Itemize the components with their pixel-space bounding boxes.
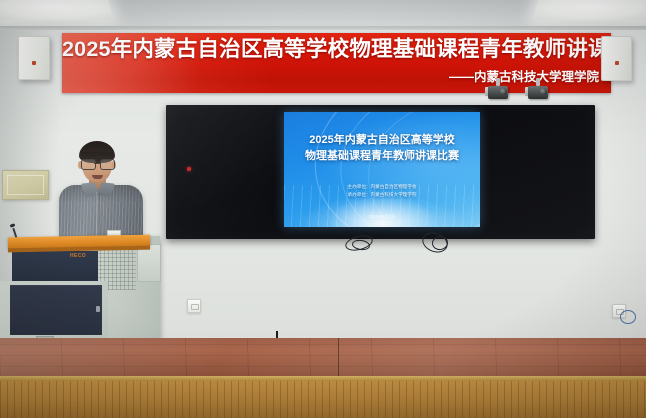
lectern-door-handle [96,306,100,312]
camera-lens-icon [540,88,547,95]
camera-lens-icon [500,88,507,95]
slide-date: 2025年9月5日 [284,214,480,220]
glasses-icon [80,159,114,168]
bracket-camera-1 [488,84,508,99]
banner-title: 2025年内蒙古自治区高等学校物理基础课程青年教师讲课比赛 [62,36,611,63]
camera-arm [496,78,500,86]
slide-glow [327,195,437,227]
lectern-brand-logo: HECO [70,253,86,259]
lecture-hall-photo: 2025年内蒙古自治区高等学校物理基础课程青年教师讲课比赛 ——内蒙古科技大学理… [0,0,646,418]
ceiling-light-left [0,0,114,20]
speaker-led-icon [32,61,36,65]
camera-arm [536,78,540,86]
slide-title-line-2: 物理基础课程青年教师讲课比赛 [284,148,480,164]
slide-organizer-line-1: 主办单位：内蒙古自治区物理学会 [284,183,480,191]
ceiling-light-right [532,0,646,20]
wall-socket-center [187,299,201,313]
speaker-led-icon [615,61,619,65]
multimedia-lectern: HECO [0,236,160,340]
glasses-lens-right [100,159,115,170]
wall-speaker-left [18,36,50,80]
socket-cord [620,310,636,324]
bracket-camera-2 [528,84,548,99]
speaker-person [56,137,146,242]
banner-attribution: ——内蒙古科技大学理学院 [449,66,599,85]
stage-front-facade [0,381,646,418]
projected-slide: 2025年内蒙古自治区高等学校 物理基础课程青年教师讲课比赛 主办单位：内蒙古自… [284,112,480,227]
lectern-cabinet-door [10,285,102,335]
board-indicator-led-icon [187,167,191,171]
wall-speaker-right [601,36,632,81]
slide-title-line-1: 2025年内蒙古自治区高等学校 [284,132,480,148]
stage-floor-gloss [0,338,646,378]
wall-plaque [2,170,49,200]
stage-floor-seam [338,338,339,378]
glasses-lens-left [81,159,96,170]
slide-organizer-line-2: 承办单位：内蒙古科技大学理学院 [284,191,480,199]
